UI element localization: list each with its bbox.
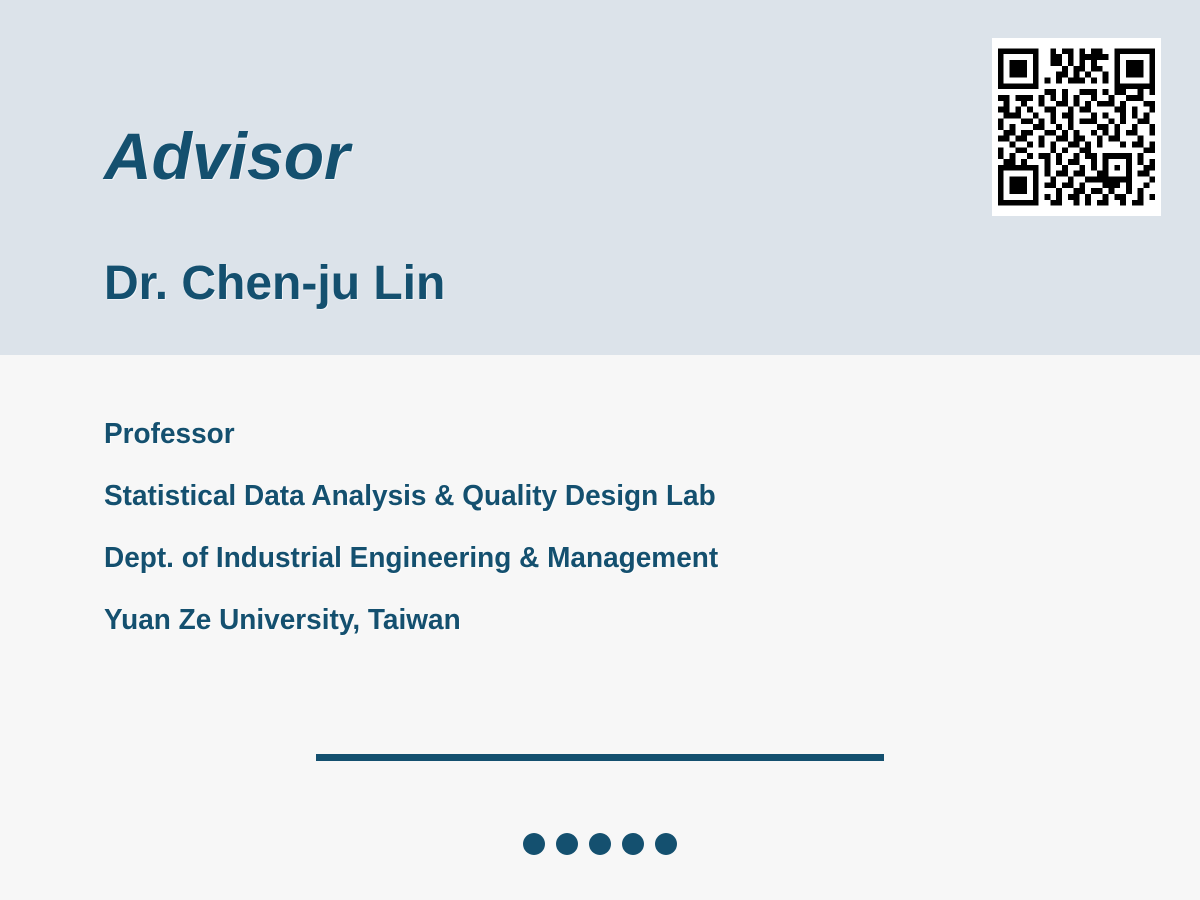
- divider: [316, 754, 884, 761]
- advisor-name: Dr. Chen-ju Lin: [104, 258, 445, 311]
- list-item: Statistical Data Analysis & Quality Desi…: [104, 465, 718, 527]
- slide-root: Advisor Dr. Chen-ju Lin: [0, 0, 1200, 900]
- list-item: Yuan Ze University, Taiwan: [104, 589, 718, 651]
- pagination-dots[interactable]: [0, 833, 1200, 855]
- header-band: Advisor Dr. Chen-ju Lin: [0, 0, 1200, 355]
- list-item: Dept. of Industrial Engineering & Manage…: [104, 527, 718, 589]
- pagination-dot[interactable]: [523, 833, 545, 855]
- pagination-dot[interactable]: [622, 833, 644, 855]
- pagination-dot[interactable]: [556, 833, 578, 855]
- qr-code-svg: [992, 38, 1161, 216]
- pagination-dot[interactable]: [589, 833, 611, 855]
- body-area: Professor Statistical Data Analysis & Qu…: [0, 355, 1200, 900]
- affiliation-list: Professor Statistical Data Analysis & Qu…: [104, 403, 740, 651]
- list-item: Professor: [104, 403, 718, 465]
- qr-code-icon[interactable]: [992, 38, 1161, 216]
- pagination-dot[interactable]: [655, 833, 677, 855]
- page-title: Advisor: [104, 122, 350, 191]
